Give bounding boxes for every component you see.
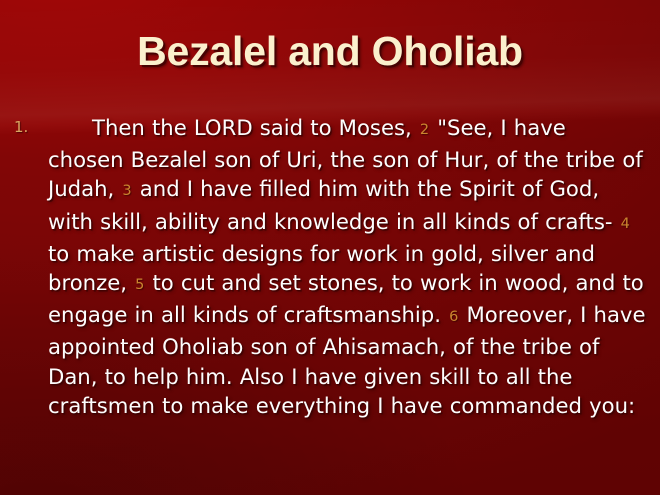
presentation-slide: Bezalel and Oholiab 1. Then the LORD sai… bbox=[0, 0, 660, 495]
slide-title: Bezalel and Oholiab bbox=[0, 26, 660, 76]
slide-body: 1. Then the LORD said to Moses, 2 "See, … bbox=[12, 113, 648, 420]
verse-number: 3 bbox=[121, 183, 132, 199]
list-item-number: 1. bbox=[14, 117, 44, 137]
verse-number: 2 bbox=[419, 122, 430, 138]
slide-content: Bezalel and Oholiab 1. Then the LORD sai… bbox=[0, 0, 660, 495]
verse-number: 6 bbox=[448, 309, 459, 325]
verse-number: 5 bbox=[134, 277, 145, 293]
scripture-paragraph: Then the LORD said to Moses, 2 "See, I h… bbox=[48, 113, 648, 420]
verse-number: 4 bbox=[620, 216, 631, 232]
list-item: 1. Then the LORD said to Moses, 2 "See, … bbox=[12, 113, 648, 420]
